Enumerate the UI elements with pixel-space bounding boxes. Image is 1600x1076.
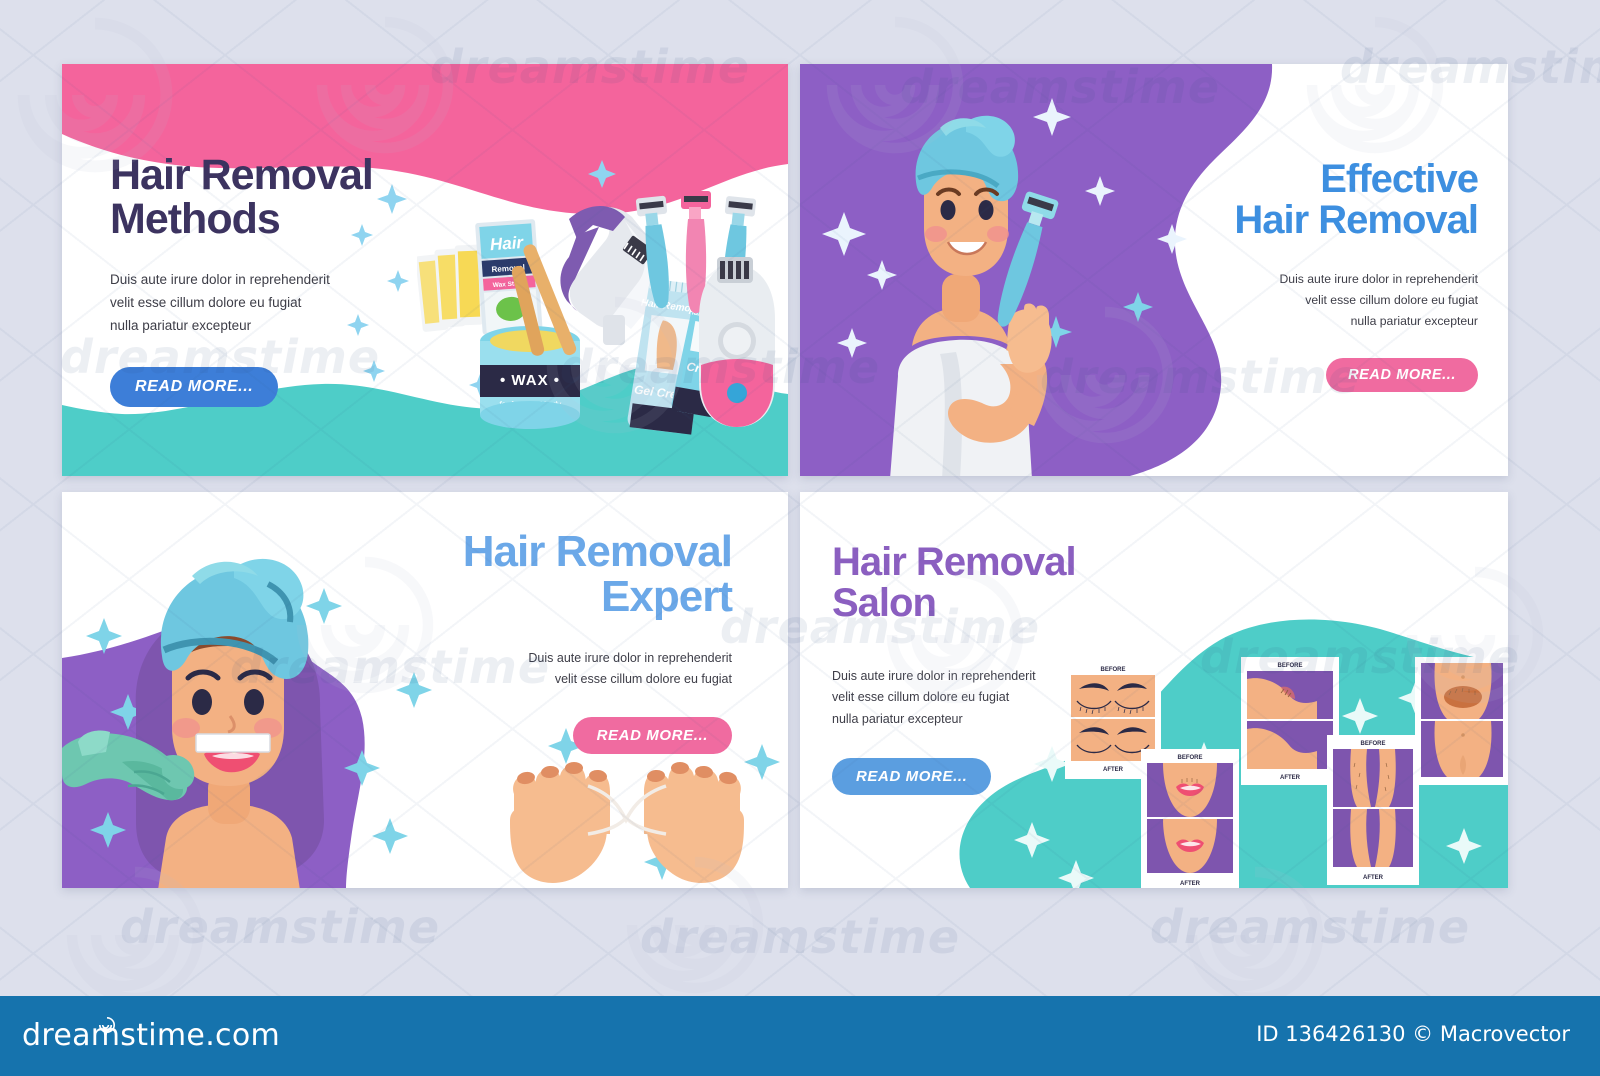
banner-hair-removal-salon[interactable]: BEFORE [800, 492, 1508, 888]
armpit-card: BEFORE AFTER [1241, 657, 1339, 785]
svg-text:BEFORE: BEFORE [1277, 663, 1302, 669]
upper-lip-card: BEFORE AFTER [1141, 749, 1239, 888]
read-more-button[interactable]: READ MORE... [1326, 358, 1478, 392]
title-line-2: Hair Removal [1234, 198, 1478, 242]
svg-text:BEFORE: BEFORE [1177, 755, 1202, 761]
threading-hands-illustration [502, 742, 752, 888]
body-line-2: velit esse cillum dolore eu fugiat [832, 687, 1142, 709]
body-line-3: nulla pariatur excepteur [1208, 311, 1478, 332]
title-line-1: Hair Removal [832, 540, 1076, 584]
svg-text:BEFORE: BEFORE [1360, 741, 1385, 747]
body-line-3: nulla pariatur excepteur [832, 709, 1142, 731]
read-more-button[interactable]: READ MORE... [832, 758, 991, 795]
banner-effective-hair-removal[interactable]: Effective Hair Removal Duis aute irure d… [800, 64, 1508, 476]
svg-text:AFTER: AFTER [1180, 881, 1201, 887]
title-line-2: Expert [601, 572, 732, 621]
banner3-body-text: Duis aute irure dolor in reprehenderit v… [302, 648, 732, 691]
page-title: Hair Removal Methods [110, 154, 440, 242]
page-title: Hair Removal Salon [832, 542, 1142, 624]
title-line-2: Salon [832, 581, 936, 625]
banner2-body-text: Duis aute irure dolor in reprehenderit v… [1208, 269, 1478, 332]
banner-grid: Hair Removal Wax Strips • WAX • for face… [0, 0, 1600, 982]
dreamstime-logo-text: dreamstime.com [22, 1018, 280, 1053]
bikini-card [1415, 657, 1508, 785]
svg-text:AFTER: AFTER [1280, 775, 1301, 781]
woman-with-razor-illustration [820, 104, 1140, 476]
page-title: Effective Hair Removal [1208, 159, 1478, 241]
svg-text:• WAX •: • WAX • [500, 372, 560, 389]
banner-hair-removal-methods[interactable]: Hair Removal Wax Strips • WAX • for face… [62, 64, 788, 476]
hair-removal-products-illustration: Hair Removal Wax Strips • WAX • for face… [417, 169, 777, 449]
dreamstime-logo[interactable]: dreamstime.com [22, 1018, 280, 1053]
title-line-1: Hair Removal [110, 151, 373, 199]
banner4-content: Hair Removal Salon Duis aute irure dolor… [832, 542, 1142, 795]
body-line-2: velit esse cillum dolore eu fugiat [1208, 290, 1478, 311]
read-more-button[interactable]: READ MORE... [110, 367, 278, 407]
banner1-body-text: Duis aute irure dolor in reprehenderit v… [110, 268, 440, 338]
banner-hair-removal-expert[interactable]: Hair Removal Expert Duis aute irure dolo… [62, 492, 788, 888]
banner1-content: Hair Removal Methods Duis aute irure dol… [110, 154, 440, 407]
svg-text:AFTER: AFTER [1363, 875, 1384, 881]
body-line-1: Duis aute irure dolor in reprehenderit [1208, 269, 1478, 290]
image-credit: ID 136426130 © Macrovector [1256, 1022, 1570, 1046]
footer-bar: dreamstime.com ID 136426130 © Macrovecto… [0, 996, 1600, 1076]
title-line-2: Methods [110, 195, 280, 243]
body-line-1: Duis aute irure dolor in reprehenderit [302, 648, 732, 670]
page-title: Hair Removal Expert [302, 530, 732, 620]
banner3-content: Hair Removal Expert Duis aute irure dolo… [302, 530, 732, 754]
title-line-1: Hair Removal [463, 527, 732, 576]
body-line-1: Duis aute irure dolor in reprehenderit [110, 268, 440, 291]
dreamstime-spiral-icon [98, 1007, 116, 1042]
body-line-2: velit esse cillum dolore eu fugiat [110, 291, 440, 314]
body-line-3: nulla pariatur excepteur [110, 314, 440, 337]
banner2-content: Effective Hair Removal Duis aute irure d… [1208, 159, 1478, 392]
body-line-2: velit esse cillum dolore eu fugiat [302, 669, 732, 691]
body-line-1: Duis aute irure dolor in reprehenderit [832, 666, 1142, 688]
title-line-1: Effective [1320, 157, 1478, 201]
svg-text:Hair: Hair [489, 233, 525, 254]
banner4-body-text: Duis aute irure dolor in reprehenderit v… [832, 666, 1142, 731]
legs-card: BEFORE AFTER [1327, 735, 1419, 885]
read-more-button[interactable]: READ MORE... [573, 717, 732, 754]
